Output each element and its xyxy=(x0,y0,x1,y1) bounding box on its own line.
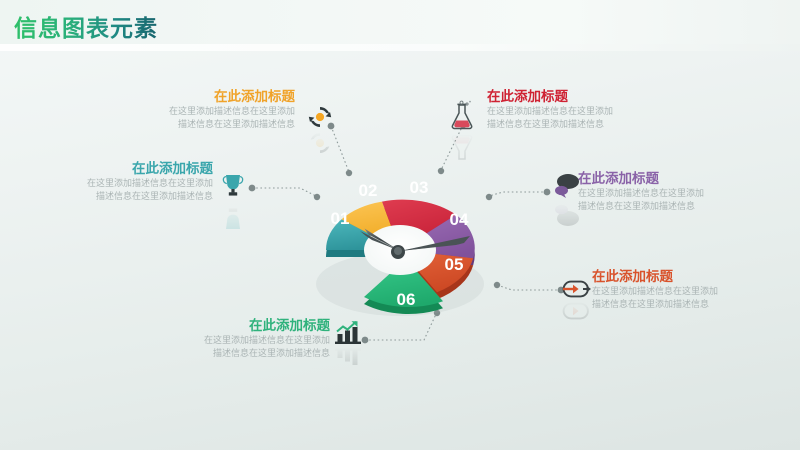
callout-desc-line-2: 描述信息在这里添加描述信息 xyxy=(110,118,295,131)
callout-bottom-right[interactable]: 在此添加标题 在这里添加描述信息在这里添加 描述信息在这里添加描述信息 xyxy=(592,268,792,310)
donut-chart-svg: 01 02 03 04 05 06 xyxy=(288,158,513,343)
segment-label-06: 06 xyxy=(397,290,416,309)
callout-title: 在此添加标题 xyxy=(592,268,792,285)
segment-label-04: 04 xyxy=(450,210,469,229)
callout-title: 在此添加标题 xyxy=(110,88,295,105)
callout-desc-line-2: 描述信息在这里添加描述信息 xyxy=(578,200,778,213)
segment-label-01: 01 xyxy=(331,209,350,228)
callout-right[interactable]: 在此添加标题 在这里添加描述信息在这里添加 描述信息在这里添加描述信息 xyxy=(578,170,778,212)
callout-desc-line-1: 在这里添加描述信息在这里添加 xyxy=(487,105,687,118)
speech-bubble-icon[interactable] xyxy=(552,172,582,200)
donut-chart[interactable]: 01 02 03 04 05 06 xyxy=(288,158,513,343)
segment-label-03: 03 xyxy=(410,178,429,197)
callout-desc-line-1: 在这里添加描述信息在这里添加 xyxy=(592,285,792,298)
callout-title: 在此添加标题 xyxy=(140,317,330,334)
callout-desc-line-1: 在这里添加描述信息在这里添加 xyxy=(140,334,330,347)
callout-top-right[interactable]: 在此添加标题 在这里添加描述信息在这里添加 描述信息在这里添加描述信息 xyxy=(487,88,687,130)
callout-desc-line-2: 描述信息在这里添加描述信息 xyxy=(140,347,330,360)
callout-title: 在此添加标题 xyxy=(487,88,687,105)
callout-desc-line-2: 描述信息在这里添加描述信息 xyxy=(487,118,687,131)
callout-title: 在此添加标题 xyxy=(578,170,778,187)
trophy-icon[interactable] xyxy=(219,172,247,202)
arrow-through-icon[interactable] xyxy=(561,278,591,300)
segment-label-02: 02 xyxy=(359,181,378,200)
callout-desc-line-2: 描述信息在这里添加描述信息 xyxy=(25,190,213,203)
callout-desc-line-1: 在这里添加描述信息在这里添加 xyxy=(578,187,778,200)
callout-desc-line-1: 在这里添加描述信息在这里添加 xyxy=(25,177,213,190)
callout-desc-line-1: 在这里添加描述信息在这里添加 xyxy=(110,105,295,118)
header-underline xyxy=(0,44,800,51)
callout-left[interactable]: 在此添加标题 在这里添加描述信息在这里添加 描述信息在这里添加描述信息 xyxy=(25,160,213,202)
callout-bottom-left[interactable]: 在此添加标题 在这里添加描述信息在这里添加 描述信息在这里添加描述信息 xyxy=(140,317,330,359)
segment-label-05: 05 xyxy=(445,255,464,274)
callout-title: 在此添加标题 xyxy=(25,160,213,177)
callout-desc-line-2: 描述信息在这里添加描述信息 xyxy=(592,298,792,311)
flask-icon[interactable] xyxy=(448,100,476,132)
refresh-cycle-icon[interactable] xyxy=(307,104,333,130)
page-title: 信息图表元素 xyxy=(14,9,158,43)
callout-top-left[interactable]: 在此添加标题 在这里添加描述信息在这里添加 描述信息在这里添加描述信息 xyxy=(110,88,295,130)
bar-growth-icon[interactable] xyxy=(334,320,364,346)
